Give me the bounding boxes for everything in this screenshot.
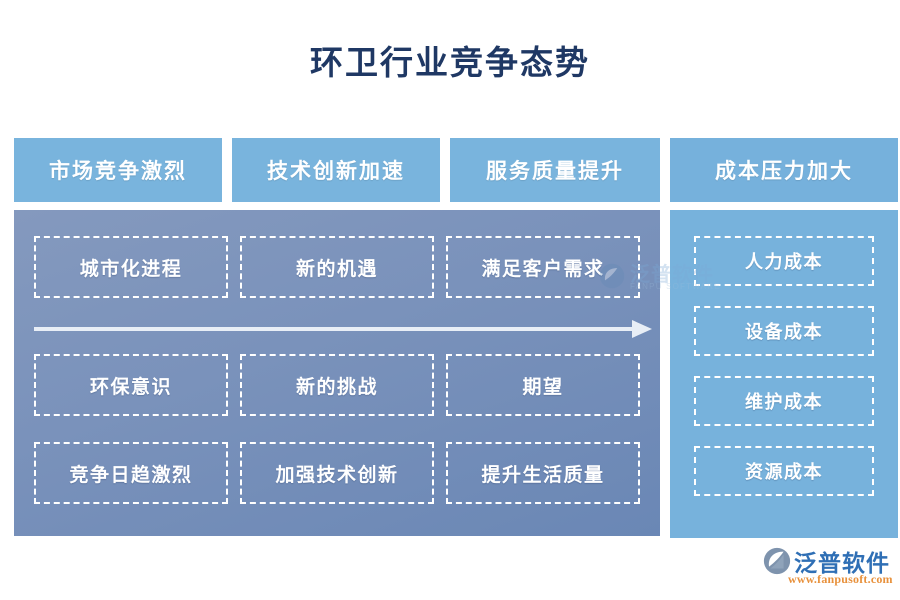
cell-urbanization[interactable]: 城市化进程 [34, 236, 228, 298]
cell-improve-life-quality[interactable]: 提升生活质量 [446, 442, 640, 504]
header-bar-market-competition[interactable]: 市场竞争激烈 [14, 138, 222, 202]
header-bar-label: 技术创新加速 [267, 155, 405, 185]
arrow-head [632, 320, 652, 338]
cell-label: 人力成本 [745, 248, 823, 274]
progress-arrow-icon [34, 320, 654, 338]
left-content-panel: 城市化进程 新的机遇 满足客户需求 环保意识 新的挑战 期望 竞争日趋激烈 加强… [14, 210, 660, 536]
cell-labor-cost[interactable]: 人力成本 [694, 236, 874, 286]
cell-resource-cost[interactable]: 资源成本 [694, 446, 874, 496]
infographic-canvas: 环卫行业竞争态势 市场竞争激烈 技术创新加速 服务质量提升 成本压力加大 城市化… [0, 0, 900, 600]
cell-label: 提升生活质量 [481, 460, 604, 487]
cell-label: 期望 [522, 372, 563, 399]
cell-environmental-awareness[interactable]: 环保意识 [34, 354, 228, 416]
cell-label: 维护成本 [745, 388, 823, 414]
header-bar-label: 服务质量提升 [486, 155, 624, 185]
header-bar-label: 市场竞争激烈 [49, 155, 187, 185]
arrow-shaft [34, 327, 642, 331]
cell-new-challenge[interactable]: 新的挑战 [240, 354, 434, 416]
brand-logo[interactable]: 泛普软件 www.fanpusoft.com [762, 544, 898, 594]
cell-strengthen-tech-innovation[interactable]: 加强技术创新 [240, 442, 434, 504]
cell-label: 新的挑战 [296, 372, 378, 399]
header-bar-tech-innovation[interactable]: 技术创新加速 [232, 138, 440, 202]
cell-meet-customer-needs[interactable]: 满足客户需求 [446, 236, 640, 298]
cell-label: 竞争日趋激烈 [69, 460, 192, 487]
cell-label: 设备成本 [745, 318, 823, 344]
cell-expectation[interactable]: 期望 [446, 354, 640, 416]
cell-label: 新的机遇 [296, 254, 378, 281]
cell-label: 加强技术创新 [275, 460, 398, 487]
header-bar-service-quality[interactable]: 服务质量提升 [450, 138, 660, 202]
right-cost-panel: 人力成本 设备成本 维护成本 资源成本 [670, 210, 898, 538]
cell-new-opportunity[interactable]: 新的机遇 [240, 236, 434, 298]
cell-label: 城市化进程 [80, 254, 183, 281]
cell-label: 资源成本 [745, 458, 823, 484]
cell-label: 环保意识 [90, 372, 172, 399]
page-title: 环卫行业竞争态势 [0, 44, 900, 84]
cell-label: 满足客户需求 [481, 254, 604, 281]
cell-equipment-cost[interactable]: 设备成本 [694, 306, 874, 356]
cell-maintenance-cost[interactable]: 维护成本 [694, 376, 874, 426]
cell-intensifying-competition[interactable]: 竞争日趋激烈 [34, 442, 228, 504]
header-bar-cost-pressure[interactable]: 成本压力加大 [670, 138, 898, 202]
header-bar-row: 市场竞争激烈 技术创新加速 服务质量提升 成本压力加大 [14, 138, 898, 202]
logo-website-url: www.fanpusoft.com [788, 572, 893, 587]
header-bar-label: 成本压力加大 [715, 155, 853, 185]
